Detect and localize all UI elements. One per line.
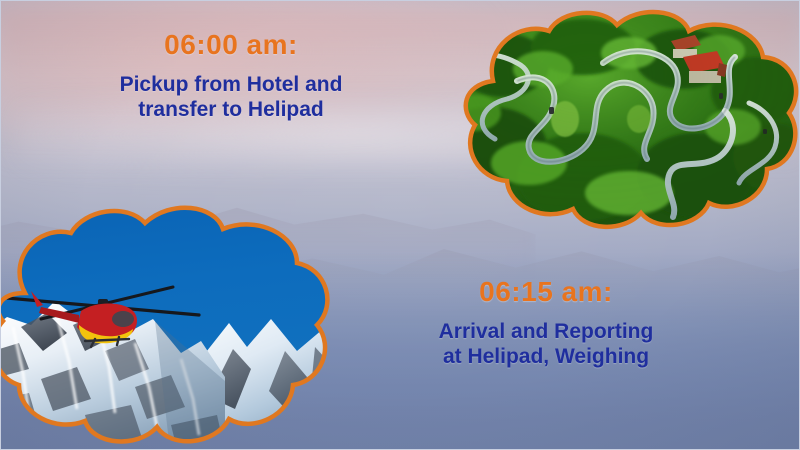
helicopter-photo-content: [0, 201, 345, 450]
itinerary-slide: 06:00 am: Pickup from Hotel and transfer…: [0, 0, 800, 450]
item-description-label: Pickup from Hotel and transfer to Helipa…: [31, 73, 431, 123]
item-time-label: 06:00 am:: [31, 29, 431, 61]
item-description-label: Arrival and Reporting at Helipad, Weighi…: [356, 320, 736, 370]
itinerary-item-0600: 06:00 am: Pickup from Hotel and transfer…: [31, 29, 431, 123]
itinerary-item-0615: 06:15 am: Arrival and Reporting at Helip…: [356, 276, 736, 370]
image-frame-helicopter-mountains: [0, 201, 345, 450]
item-time-label: 06:15 am:: [356, 276, 736, 308]
image-frame-winding-mountain-road: [433, 7, 800, 235]
